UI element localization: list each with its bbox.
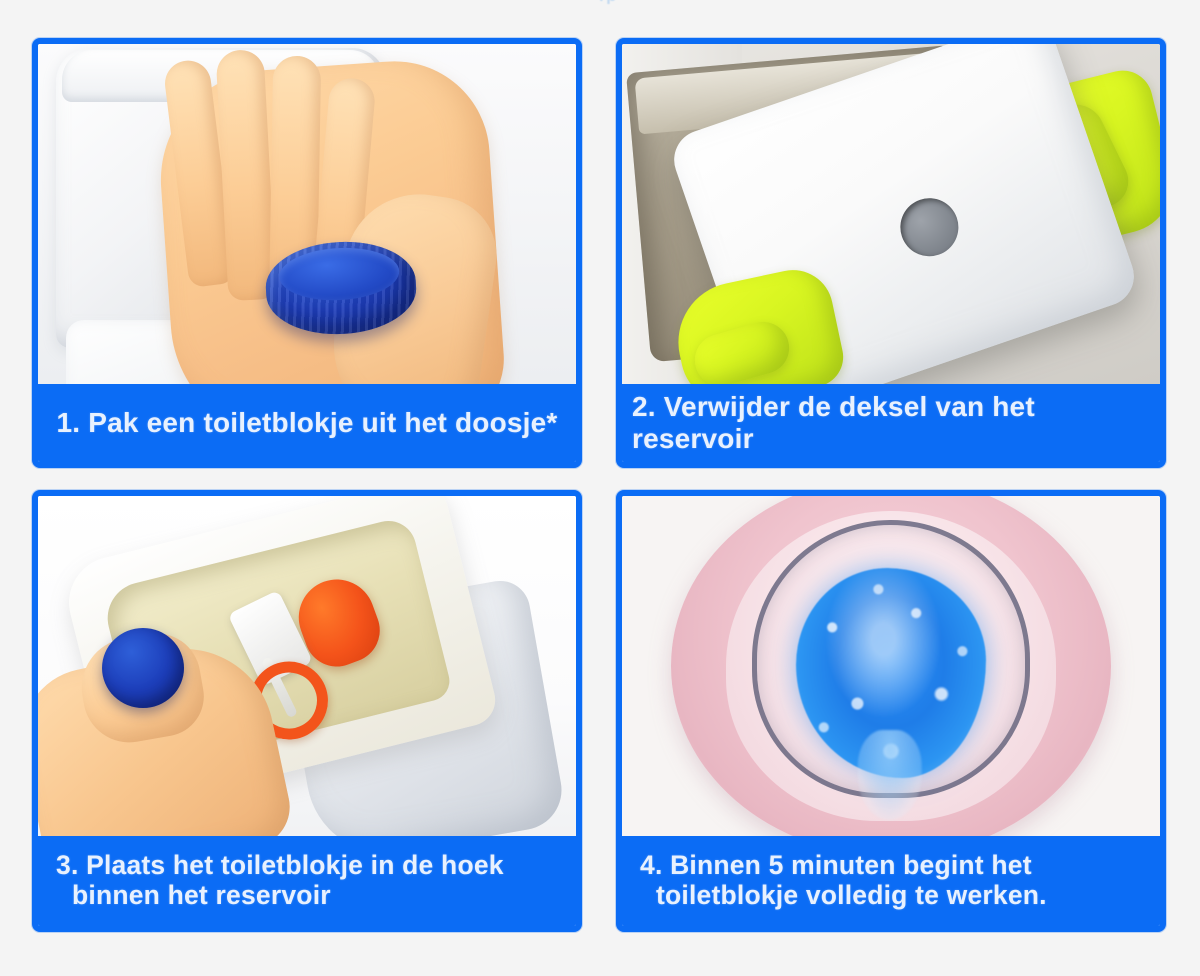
- toilet-bowl-with-blue-foaming-water-image: [622, 496, 1160, 836]
- steps-grid: 1. Pak een toiletblokje uit het doosje*: [32, 38, 1166, 932]
- water-splash: [858, 730, 922, 820]
- step-card-4[interactable]: 4. Binnen 5 minuten begint het toiletblo…: [616, 490, 1166, 932]
- placing-block-in-cistern-corner-image: [38, 496, 576, 836]
- clipped-top-text: rp: [548, 0, 668, 4]
- lid-hole: [893, 190, 967, 264]
- step-caption-3: 3. Plaats het toiletblokje in de hoek bi…: [38, 836, 576, 926]
- step-caption-3-text: 3. Plaats het toiletblokje in de hoek bi…: [56, 851, 562, 910]
- step-caption-2-text: 2. Verwijder de deksel van het reservoir: [632, 391, 1150, 455]
- blue-toilet-block-shape: [102, 628, 184, 708]
- step-caption-1-text: 1. Pak een toiletblokje uit het doosje*: [56, 407, 557, 439]
- step-caption-1: 1. Pak een toiletblokje uit het doosje*: [38, 384, 576, 462]
- step-card-3[interactable]: 3. Plaats het toiletblokje in de hoek bi…: [32, 490, 582, 932]
- step-caption-4: 4. Binnen 5 minuten begint het toiletblo…: [622, 836, 1160, 926]
- step-caption-2: 2. Verwijder de deksel van het reservoir: [622, 384, 1160, 462]
- step-card-1[interactable]: 1. Pak een toiletblokje uit het doosje*: [32, 38, 582, 468]
- step-caption-4-text: 4. Binnen 5 minuten begint het toiletblo…: [640, 851, 1146, 910]
- step-card-2[interactable]: 2. Verwijder de deksel van het reservoir: [616, 38, 1166, 468]
- gloved-hands-lifting-cistern-lid-image: [622, 44, 1160, 384]
- instruction-infographic: rp 1. Pak een toiletblok: [0, 0, 1200, 976]
- hand-holding-blue-toilet-block-image: [38, 44, 576, 384]
